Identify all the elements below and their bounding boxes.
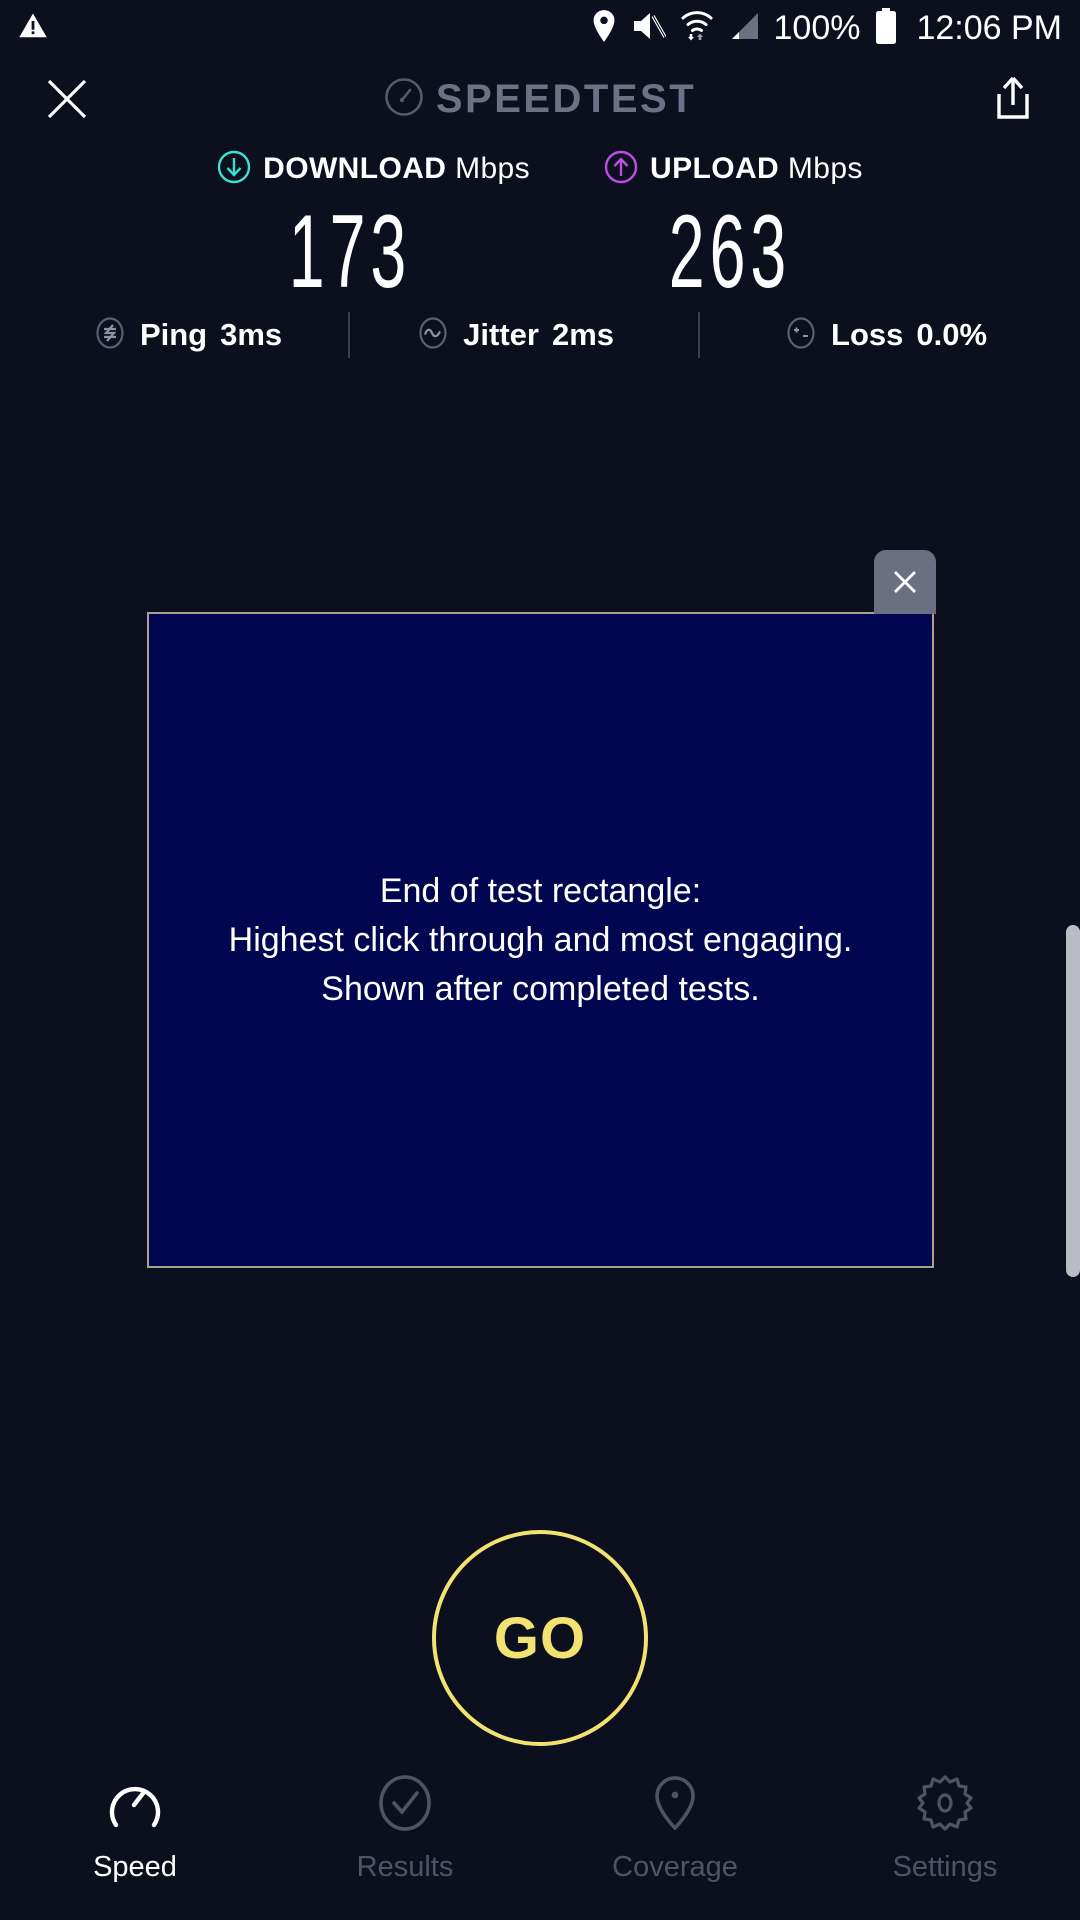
location-pin-icon: [590, 9, 618, 48]
sub-metrics-row: Ping 3ms Jitter 2ms: [0, 300, 1080, 370]
go-button-label: GO: [494, 1605, 586, 1672]
wifi-icon: [680, 9, 714, 48]
download-value: 173: [232, 200, 468, 304]
gear-icon: [916, 1774, 974, 1837]
nav-label-settings: Settings: [893, 1851, 998, 1884]
jitter-metric: Jitter 2ms: [416, 316, 614, 355]
loss-icon: [784, 316, 818, 355]
ping-metric: Ping 3ms: [93, 316, 282, 355]
ad-text-line-2: Highest click through and most engaging.: [229, 916, 853, 965]
result-labels-row: DOWNLOAD Mbps UPLOAD Mbps: [0, 142, 1080, 196]
loss-metric: Loss 0.0%: [784, 316, 987, 355]
ad-rectangle[interactable]: End of test rectangle: Highest click thr…: [147, 612, 934, 1268]
nav-label-results: Results: [357, 1851, 454, 1884]
speedometer-icon: [384, 77, 424, 122]
brand: SPEEDTEST: [384, 77, 696, 122]
upload-label-group: UPLOAD Mbps: [604, 150, 863, 189]
nav-label-speed: Speed: [93, 1851, 177, 1884]
jitter-name: Jitter: [463, 317, 539, 353]
download-label-group: DOWNLOAD Mbps: [217, 150, 530, 189]
ping-icon: [93, 316, 127, 355]
go-button[interactable]: GO: [432, 1530, 648, 1746]
status-bar-clock: 12:06 PM: [916, 9, 1062, 48]
status-bar-left: [18, 11, 48, 46]
jitter-value: 2ms: [552, 317, 614, 353]
arrow-down-circle-icon: [217, 150, 251, 189]
share-icon[interactable]: [984, 70, 1042, 128]
bottom-navigation-bar: Speed Results Coverage: [0, 1760, 1080, 1920]
loss-name: Loss: [831, 317, 903, 353]
nav-item-speed[interactable]: Speed: [10, 1774, 260, 1884]
battery-full-icon: [874, 8, 898, 49]
app-header: SPEEDTEST: [0, 56, 1080, 142]
location-pin-icon: [646, 1774, 704, 1837]
divider: [698, 312, 700, 358]
close-button[interactable]: [38, 70, 96, 128]
upload-value: 263: [612, 200, 848, 304]
ad-text-line-1: End of test rectangle:: [229, 867, 853, 916]
vertical-scrollbar[interactable]: [1066, 925, 1080, 1277]
cellular-signal-icon: [728, 11, 760, 46]
ad-close-button[interactable]: [874, 550, 936, 614]
nav-item-settings[interactable]: Settings: [820, 1774, 1070, 1884]
ad-container: End of test rectangle: Highest click thr…: [147, 612, 934, 1268]
warning-triangle-icon: [18, 11, 48, 46]
jitter-icon: [416, 316, 450, 355]
results-block: DOWNLOAD Mbps UPLOAD Mbps 173 263: [0, 142, 1080, 310]
loss-value: 0.0%: [916, 317, 987, 353]
divider: [348, 312, 350, 358]
nav-item-results[interactable]: Results: [280, 1774, 530, 1884]
result-values-row: 173 263: [0, 200, 1080, 310]
ad-text-line-3: Shown after completed tests.: [229, 965, 853, 1014]
speedometer-icon: [106, 1774, 164, 1837]
nav-label-coverage: Coverage: [612, 1851, 738, 1884]
check-circle-icon: [376, 1774, 434, 1837]
arrow-up-circle-icon: [604, 150, 638, 189]
status-bar: 100% 12:06 PM: [0, 0, 1080, 56]
battery-percentage: 100%: [774, 9, 861, 48]
status-bar-right: 100% 12:06 PM: [590, 8, 1063, 49]
speedtest-app-screen: 100% 12:06 PM: [0, 0, 1080, 1920]
upload-label: UPLOAD Mbps: [650, 152, 863, 186]
ping-name: Ping: [140, 317, 207, 353]
ad-text: End of test rectangle: Highest click thr…: [215, 867, 867, 1014]
nav-item-coverage[interactable]: Coverage: [550, 1774, 800, 1884]
mute-icon: [632, 10, 666, 47]
download-label: DOWNLOAD Mbps: [263, 152, 530, 186]
ping-value: 3ms: [220, 317, 282, 353]
brand-title: SPEEDTEST: [436, 77, 696, 122]
